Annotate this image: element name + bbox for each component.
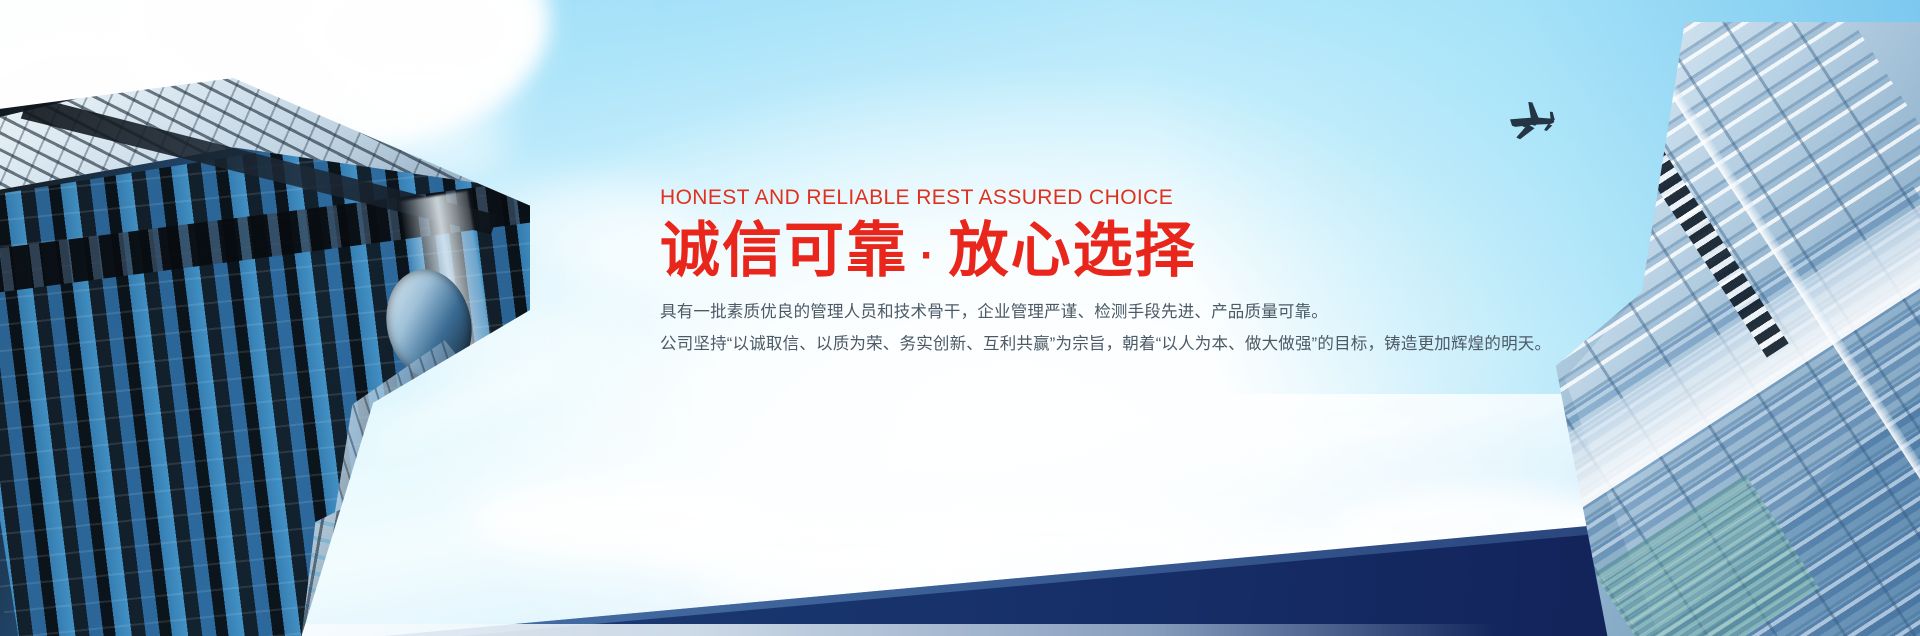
- hero-banner: HONEST AND RELIABLE REST ASSURED CHOICE …: [0, 0, 1920, 636]
- banner-description: 具有一批素质优良的管理人员和技术骨干，企业管理严谨、检测手段先进、产品质量可靠。…: [660, 296, 1720, 360]
- banner-headline: 诚信可靠·放心选择: [660, 217, 1720, 284]
- description-line-1: 具有一批素质优良的管理人员和技术骨干，企业管理严谨、检测手段先进、产品质量可靠。: [660, 296, 1720, 328]
- headline-part-left: 诚信可靠: [660, 217, 908, 284]
- headline-part-right: 放心选择: [949, 217, 1197, 284]
- banner-eyebrow: HONEST AND RELIABLE REST ASSURED CHOICE: [660, 186, 1720, 209]
- headline-separator-dot: ·: [908, 231, 949, 280]
- description-line-2: 公司坚持“以诚取信、以质为荣、务实创新、互利共赢”为宗旨，朝着“以人为本、做大做…: [660, 328, 1720, 360]
- banner-copy: HONEST AND RELIABLE REST ASSURED CHOICE …: [660, 186, 1720, 361]
